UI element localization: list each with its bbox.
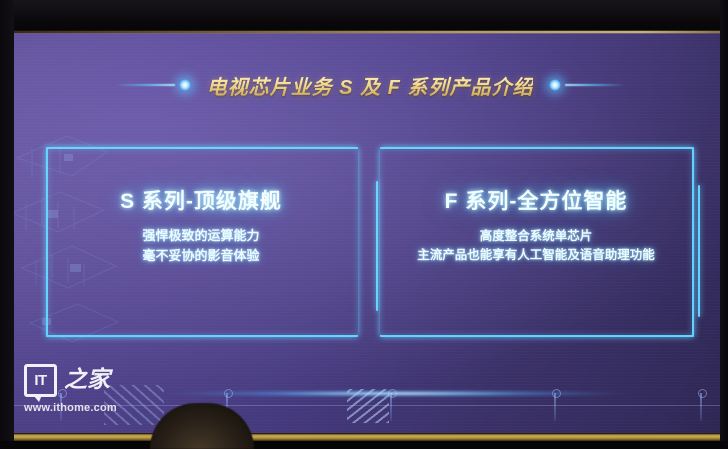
glow-dot-beam-right-icon [547,78,625,92]
presentation-photo: 电视芯片业务 S 及 F 系列产品介绍 S 系列-顶级旗舰 强悍极致的运算能力 … [0,0,728,449]
screen-top-edge [12,31,728,33]
room-wall-bottom [0,441,728,449]
ithome-logo-icon: IT [24,364,57,397]
projected-slide: 电视芯片业务 S 及 F 系列产品介绍 S 系列-顶级旗舰 强悍极致的运算能力 … [12,33,728,433]
rail-post-cap [698,389,707,398]
panel-group: S 系列-顶级旗舰 强悍极致的运算能力 毫不妥协的影音体验 F 系列-全方位智能… [12,133,728,373]
panel-s-series: S 系列-顶级旗舰 强悍极致的运算能力 毫不妥协的影音体验 [46,133,356,348]
ithome-url: www.ithome.com [24,402,117,414]
neon-tick-left [376,181,378,311]
ithome-watermark: IT 之家 www.ithome.com [24,364,117,414]
panel-subtitle-s-2: 毫不妥协的影音体验 [54,247,348,266]
room-wall-left [0,0,14,449]
panel-subtitle-s-1: 强悍极致的运算能力 [54,227,348,246]
panel-subtitle-f-1: 高度整合系统单芯片 [388,227,684,245]
panel-subtitle-f-2: 主流产品也能享有人工智能及语音助理功能 [388,246,684,264]
screen-bottom-edge [12,434,728,441]
room-wall-right [720,0,728,449]
slide-title-row: 电视芯片业务 S 及 F 系列产品介绍 [12,63,728,107]
stage-rail-line [12,405,728,406]
ithome-logo-cn: 之家 [64,369,110,392]
panel-heading-f: F 系列-全方位智能 [388,185,684,215]
panel-f-series: F 系列-全方位智能 高度整合系统单芯片 主流产品也能享有人工智能及语音助理功能 [380,133,692,348]
panel-heading-s: S 系列-顶级旗舰 [54,185,348,215]
neon-tick-right [698,185,700,317]
glow-dot-beam-left-icon [115,78,193,92]
light-streak-decoration [72,390,632,397]
slide-title: 电视芯片业务 S 及 F 系列产品介绍 [207,71,534,100]
room-wall-top [0,0,728,33]
